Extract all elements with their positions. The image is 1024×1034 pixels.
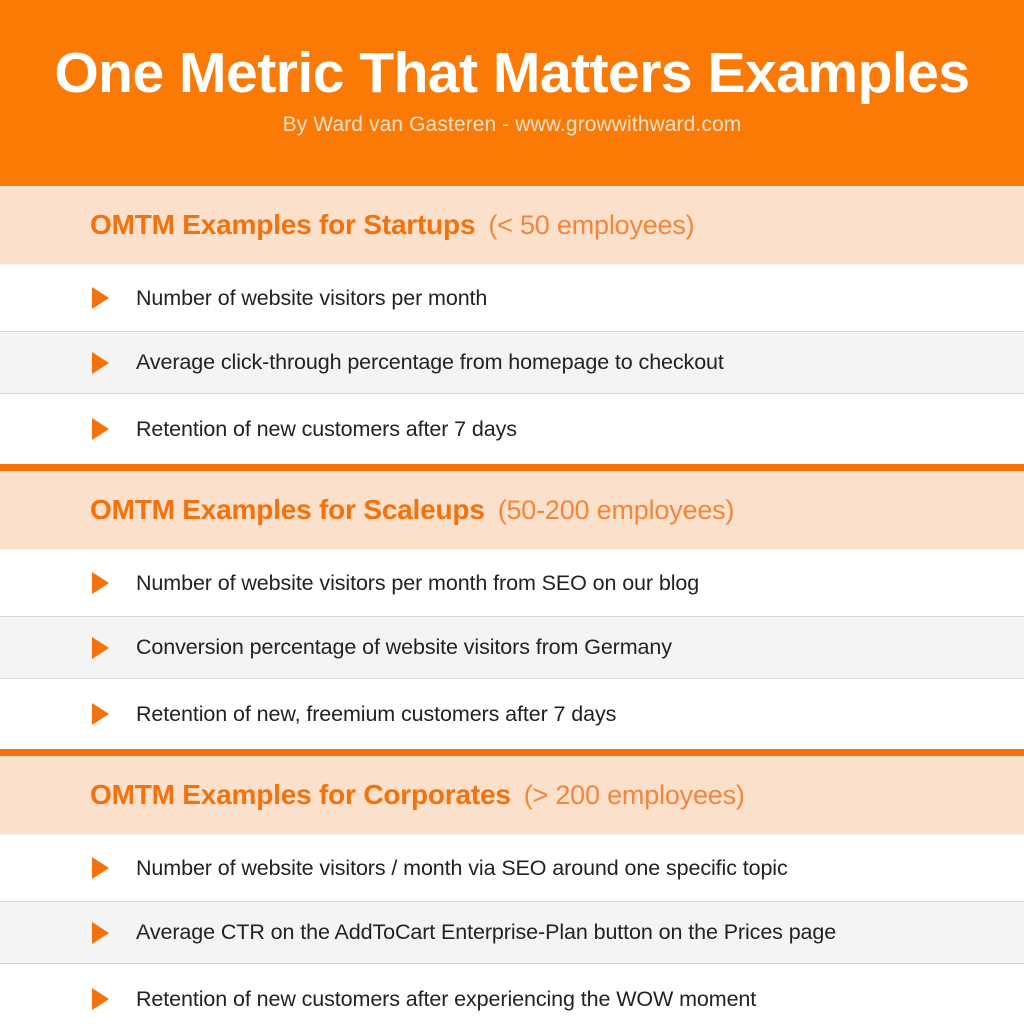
- section-corporates: OMTM Examples for Corporates (> 200 empl…: [0, 749, 1024, 1034]
- triangle-right-icon: [92, 988, 109, 1010]
- section-title: OMTM Examples for Startups: [90, 209, 475, 241]
- list-item-label: Retention of new, freemium customers aft…: [136, 702, 616, 727]
- section-scaleups: OMTM Examples for Scaleups (50-200 emplo…: [0, 464, 1024, 749]
- triangle-right-icon: [92, 418, 109, 440]
- list-item[interactable]: Number of website visitors / month via S…: [0, 835, 1024, 901]
- triangle-right-icon: [92, 572, 109, 594]
- page-title: One Metric That Matters Examples: [30, 44, 994, 102]
- section-divider: [0, 464, 1024, 471]
- list-item[interactable]: Average CTR on the AddToCart Enterprise-…: [0, 901, 1024, 964]
- list-item[interactable]: Average click-through percentage from ho…: [0, 331, 1024, 394]
- triangle-right-icon: [92, 703, 109, 725]
- section-subtitle: (< 50 employees): [488, 210, 694, 241]
- list-item-label: Retention of new customers after experie…: [136, 987, 756, 1012]
- list-item[interactable]: Conversion percentage of website visitor…: [0, 616, 1024, 679]
- list-item[interactable]: Number of website visitors per month fro…: [0, 550, 1024, 616]
- list-item[interactable]: Retention of new, freemium customers aft…: [0, 679, 1024, 749]
- list-item-label: Number of website visitors per month fro…: [136, 571, 699, 596]
- list-item-label: Average CTR on the AddToCart Enterprise-…: [136, 920, 836, 945]
- section-startups: OMTM Examples for Startups (< 50 employe…: [0, 186, 1024, 464]
- triangle-right-icon: [92, 352, 109, 374]
- list-item[interactable]: Number of website visitors per month: [0, 265, 1024, 331]
- section-divider: [0, 749, 1024, 756]
- section-subtitle: (> 200 employees): [524, 780, 745, 811]
- list-item-label: Number of website visitors / month via S…: [136, 856, 788, 881]
- list-item-label: Retention of new customers after 7 days: [136, 417, 517, 442]
- infographic-root: One Metric That Matters Examples By Ward…: [0, 0, 1024, 1024]
- triangle-right-icon: [92, 637, 109, 659]
- list-item-label: Conversion percentage of website visitor…: [136, 635, 672, 660]
- section-title: OMTM Examples for Corporates: [90, 779, 511, 811]
- section-header-scaleups: OMTM Examples for Scaleups (50-200 emplo…: [0, 471, 1024, 550]
- author-credit: By Ward van Gasteren - www.growwithward.…: [30, 113, 994, 137]
- section-item-list: Number of website visitors / month via S…: [0, 835, 1024, 1034]
- triangle-right-icon: [92, 287, 109, 309]
- list-item-label: Number of website visitors per month: [136, 286, 487, 311]
- triangle-right-icon: [92, 922, 109, 944]
- section-header-corporates: OMTM Examples for Corporates (> 200 empl…: [0, 756, 1024, 835]
- list-item-label: Average click-through percentage from ho…: [136, 350, 724, 375]
- triangle-right-icon: [92, 857, 109, 879]
- header-banner: One Metric That Matters Examples By Ward…: [0, 0, 1024, 186]
- section-subtitle: (50-200 employees): [498, 495, 735, 526]
- section-title: OMTM Examples for Scaleups: [90, 494, 485, 526]
- section-header-startups: OMTM Examples for Startups (< 50 employe…: [0, 186, 1024, 265]
- section-item-list: Number of website visitors per month fro…: [0, 550, 1024, 749]
- list-item[interactable]: Retention of new customers after 7 days: [0, 394, 1024, 464]
- section-item-list: Number of website visitors per month Ave…: [0, 265, 1024, 464]
